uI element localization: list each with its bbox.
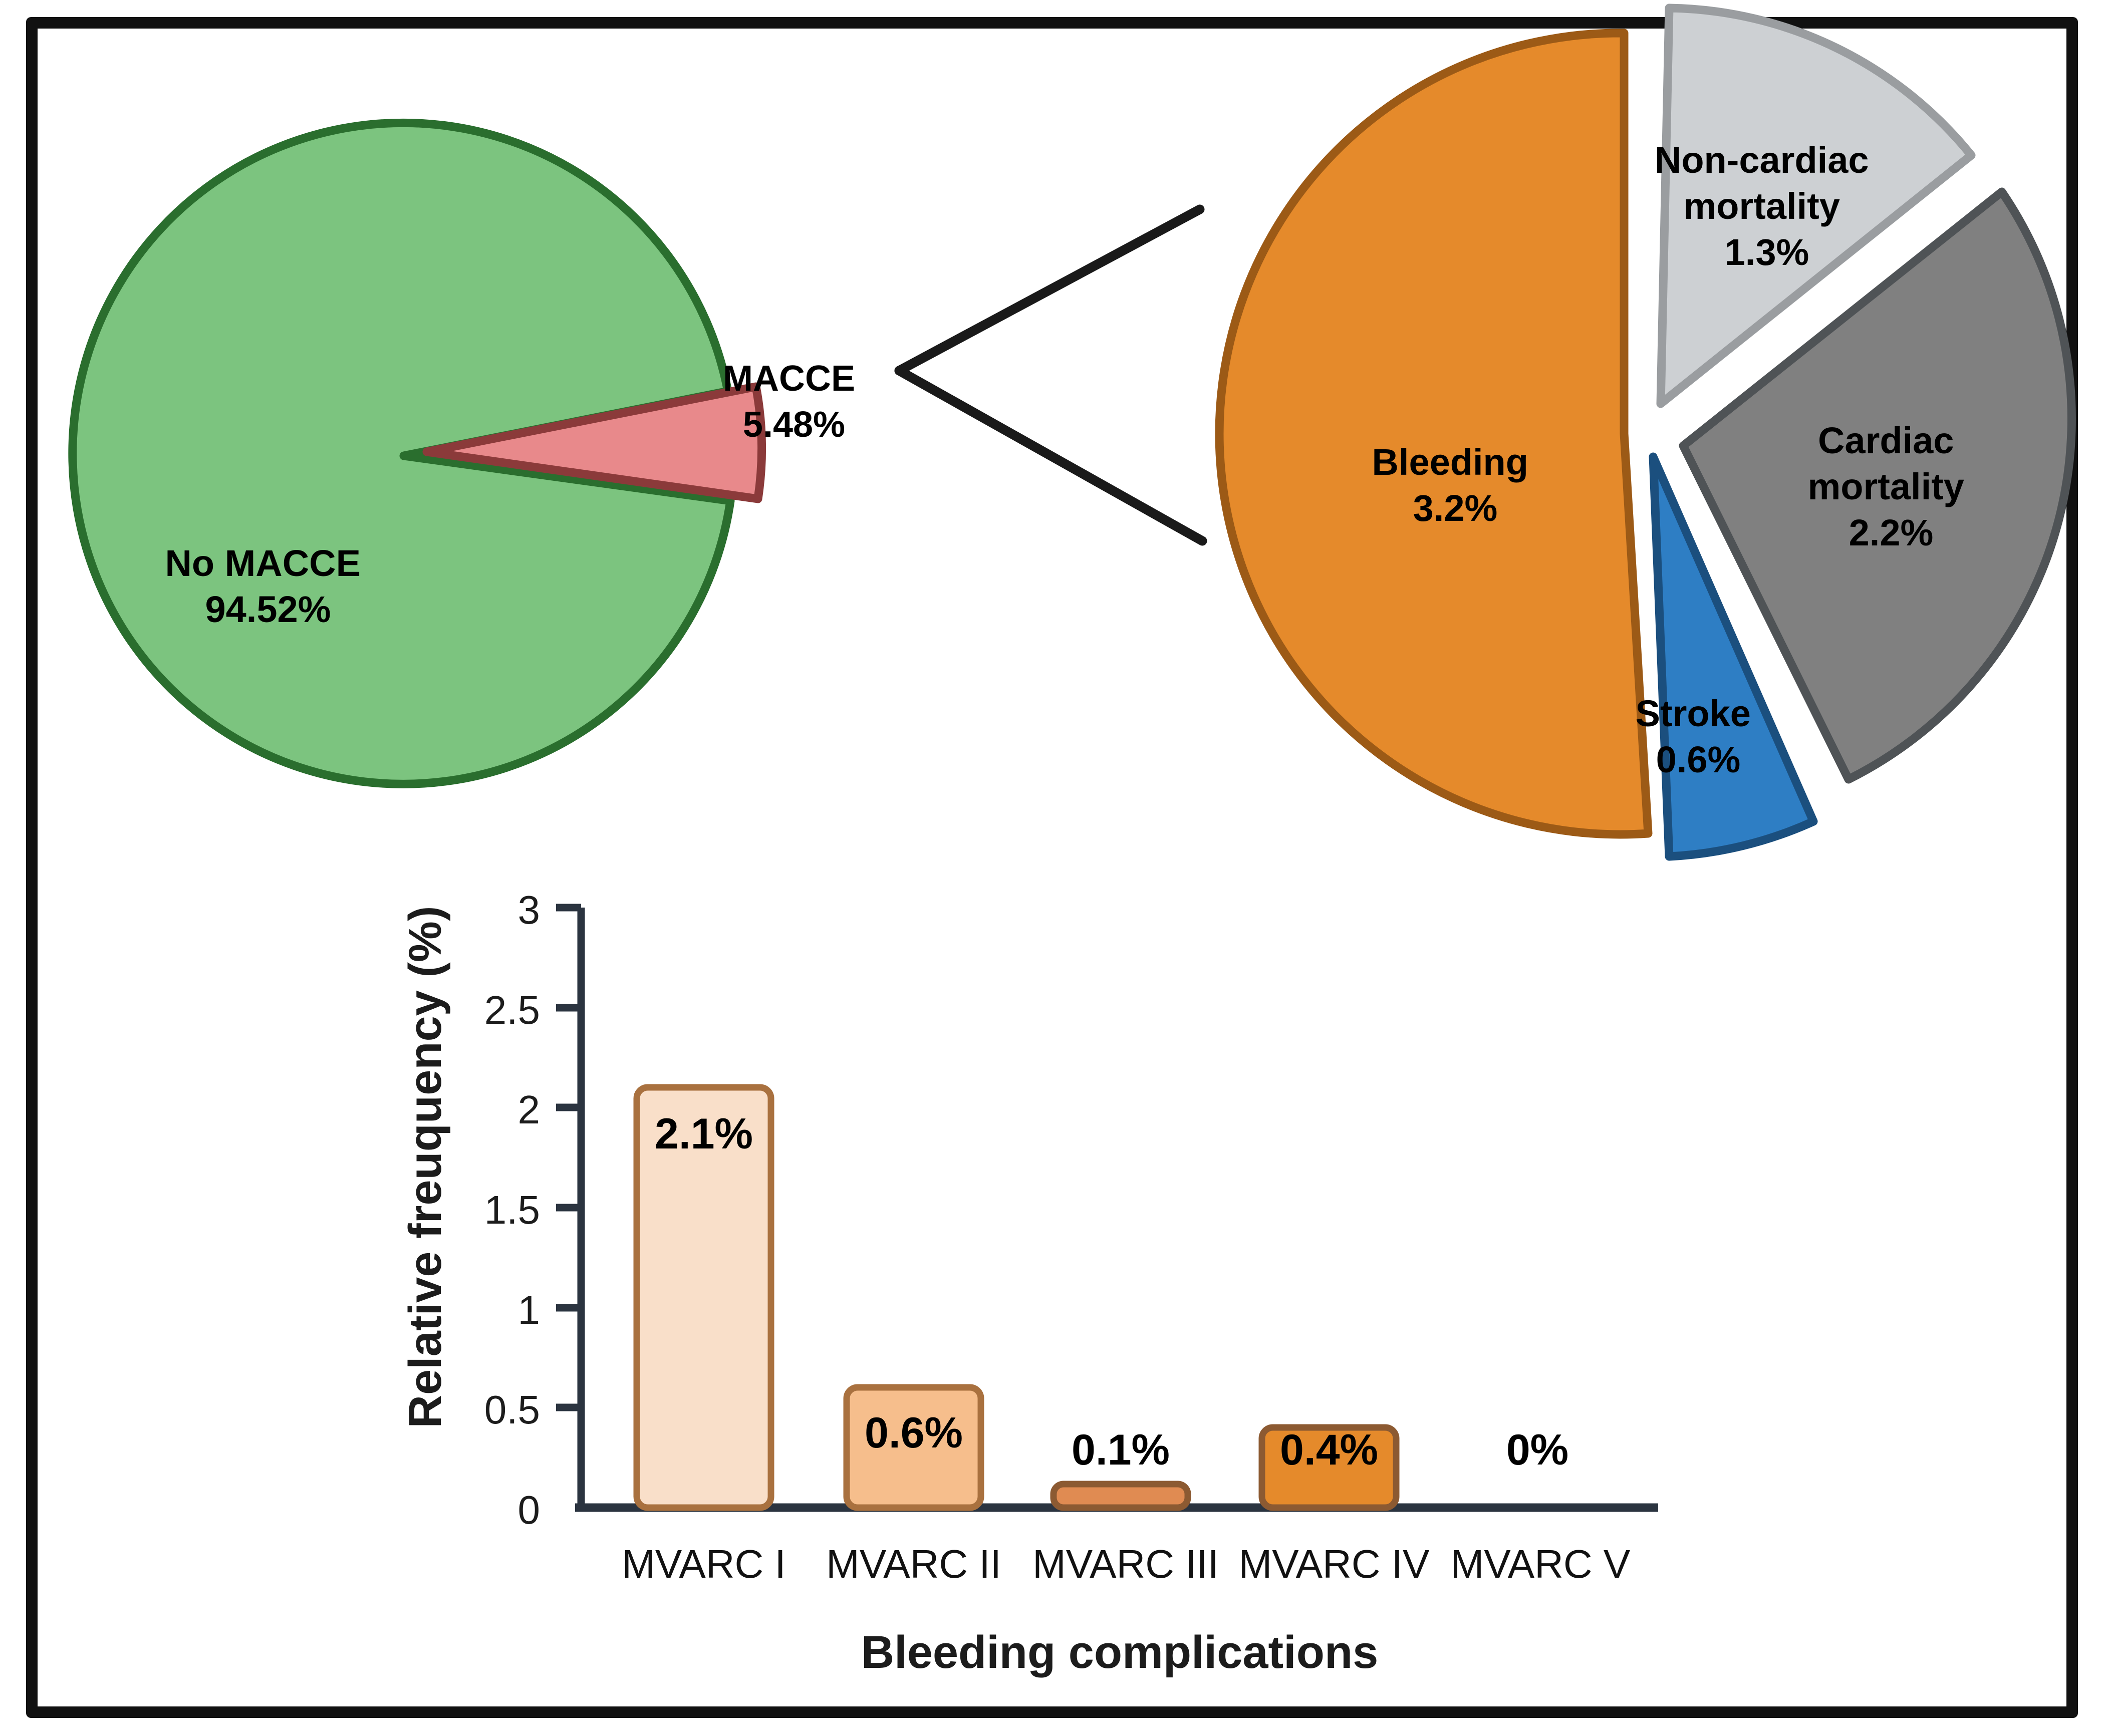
pie-slice-bleeding[interactable] — [1219, 33, 1648, 834]
bar-group-mvarc-i[interactable]: 2.1% — [637, 1087, 771, 1508]
pie-to-pie-connector — [899, 209, 1202, 541]
x-label-mvarc-v: MVARC V — [1451, 1542, 1631, 1586]
bar-value-label-mvarc-ii: 0.6% — [865, 1409, 963, 1457]
x-axis-title: Bleeding complications — [861, 1627, 1379, 1678]
bar-group-mvarc-iv[interactable]: 0.4% — [1262, 1426, 1396, 1508]
macce-overview-pie: No MACCE 94.52% MACCE 5.48% — [73, 123, 865, 784]
y-tick-label-3: 3 — [518, 888, 541, 932]
x-label-mvarc-iv: MVARC IV — [1239, 1542, 1430, 1586]
figure-canvas: No MACCE 94.52% MACCE 5.48% — [0, 0, 2104, 1736]
x-label-mvarc-iii: MVARC III — [1032, 1542, 1219, 1586]
bar-value-label-mvarc-v: 0% — [1506, 1426, 1568, 1474]
x-label-mvarc-ii: MVARC II — [826, 1542, 1001, 1586]
y-tick-label-0: 0 — [518, 1488, 541, 1532]
x-label-mvarc-i: MVARC I — [622, 1542, 785, 1586]
bar-group-mvarc-ii[interactable]: 0.6% — [847, 1387, 981, 1508]
connector-line-upper — [899, 209, 1200, 371]
bleeding-complications-bar-chart: 3 2.5 2 1.5 1 0.5 0 2.1% 0.6% — [400, 888, 1658, 1678]
y-tick-label-2.5: 2.5 — [484, 988, 540, 1032]
y-tick-label-0.5: 0.5 — [484, 1387, 540, 1432]
y-axis-tick-labels: 3 2.5 2 1.5 1 0.5 0 — [484, 888, 540, 1532]
bar-group-mvarc-iii[interactable]: 0.1% — [1054, 1426, 1188, 1508]
x-axis-category-labels: MVARC I MVARC II MVARC III MVARC IV MVAR… — [622, 1542, 1631, 1586]
macce-breakdown-pie: Bleeding 3.2% Non-cardiac mortality 1.3%… — [1219, 8, 2071, 856]
y-tick-label-2: 2 — [518, 1087, 541, 1132]
bar-value-label-mvarc-iii: 0.1% — [1072, 1426, 1170, 1474]
y-tick-label-1: 1 — [518, 1288, 541, 1332]
bar-value-label-mvarc-i: 2.1% — [655, 1110, 753, 1158]
figure-root: No MACCE 94.52% MACCE 5.48% — [0, 0, 2104, 1736]
bar-group-mvarc-v[interactable]: 0% — [1470, 1426, 1605, 1508]
connector-line-lower — [899, 371, 1202, 541]
y-axis-title: Relative freuquency (%) — [400, 906, 451, 1428]
y-tick-label-1.5: 1.5 — [484, 1188, 540, 1232]
bar-mvarc-iii[interactable] — [1054, 1484, 1188, 1508]
bar-value-label-mvarc-iv: 0.4% — [1280, 1426, 1378, 1474]
